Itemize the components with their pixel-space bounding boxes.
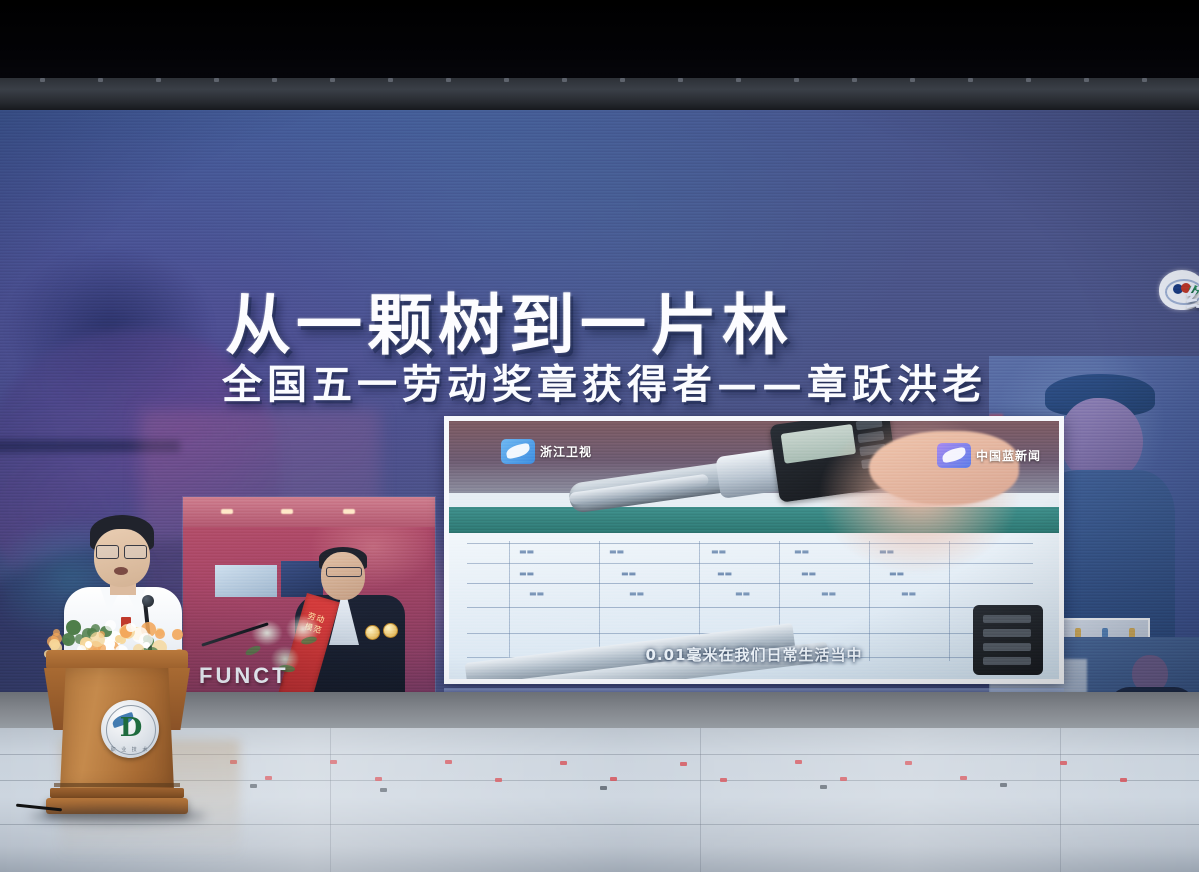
photo-glasses-icon [326, 567, 362, 577]
floor-confetti [720, 778, 727, 782]
floor-debris [1000, 783, 1007, 787]
document-cell: ▬▬ [529, 589, 544, 598]
document-cell: ▬▬ [735, 589, 750, 598]
photo-medal-1 [365, 625, 380, 640]
floor-confetti [1120, 778, 1127, 782]
flower-blossom [90, 632, 105, 647]
document-cell: ▬▬ [621, 569, 636, 578]
floor-seam-vertical [330, 728, 331, 872]
lectern-stripe [54, 783, 180, 787]
photo-spotlight-3 [343, 509, 355, 514]
page-title: 从一颗树到一片林 [225, 292, 793, 358]
floor-confetti [445, 760, 452, 764]
floor-confetti [265, 776, 272, 780]
photo-overlay-text: FUNCT [199, 663, 289, 689]
floor-confetti [680, 762, 687, 766]
lectern-top [46, 650, 188, 670]
crest-ring-text: · 职 业 技 术 · [101, 746, 159, 753]
floor-debris [250, 784, 257, 788]
bug-right-label: 中国蓝新闻 [976, 447, 1041, 464]
video-panel-frame: ▬▬▬▬▬▬▬▬▬▬▬▬▬▬▬▬▬▬▬▬▬▬▬▬▬▬▬▬▬▬ [444, 416, 1064, 684]
flower-blossom [66, 620, 81, 635]
photo-panel-2 [281, 561, 323, 597]
china-blue-news-logo-icon [937, 443, 971, 468]
floor-debris [380, 788, 387, 792]
broadcaster-bug-left: 浙江卫视 [501, 439, 592, 464]
document-cell: ▬▬ [629, 589, 644, 598]
photo-panel-1 [215, 565, 277, 597]
floor-confetti [560, 761, 567, 765]
flower-blossom [63, 638, 70, 645]
organization-logo-text: 红 [1186, 278, 1199, 315]
document-cell: ▬▬ [519, 569, 534, 578]
document-cell: ▬▬ [717, 569, 732, 578]
video-subtitle: 0.01毫米在我们日常生活当中 [449, 644, 1059, 665]
floor-confetti [960, 776, 967, 780]
document-cell: ▬▬ [519, 547, 534, 556]
microphone-head-icon [142, 595, 154, 607]
photo-award-ceremony: 劳动模范 FUNCT [183, 497, 435, 695]
crest-letter: D [117, 714, 145, 742]
floor-seam-vertical [700, 728, 701, 872]
school-crest-emblem-icon: D · 职 业 技 术 · [101, 700, 159, 758]
flower-blossom [53, 629, 60, 636]
floor-debris [820, 785, 827, 789]
broadcaster-bug-right: 中国蓝新闻 [937, 443, 1041, 468]
floor-confetti [375, 777, 382, 781]
document-column-rule [509, 541, 510, 661]
zhejiang-tv-logo-icon [501, 439, 535, 464]
document-cell: ▬▬ [609, 547, 624, 556]
document-column-rule [599, 541, 600, 661]
page-subtitle: 全国五一劳动奖章获得者——章跃洪老师 [222, 365, 1032, 405]
floor-debris [600, 786, 607, 790]
floor-confetti [610, 777, 617, 781]
bug-left-label: 浙江卫视 [540, 443, 592, 460]
flower-blossom [155, 629, 165, 639]
lectern-body: D · 职 业 技 术 · [60, 668, 174, 790]
lectern-base [50, 788, 184, 798]
lectern: D · 职 业 技 术 · [46, 650, 188, 815]
floor-seam-vertical [1060, 728, 1061, 872]
eyeglasses-icon [96, 545, 148, 557]
floor-confetti [840, 777, 847, 781]
speaker-mouth [114, 567, 128, 575]
floor-confetti [795, 760, 802, 764]
stage-photograph: 红 从一颗树到一片林 全国五一劳动奖章获得者——章跃洪老师 [0, 0, 1199, 872]
photo-spotlight-1 [221, 509, 233, 514]
floor-confetti [1060, 761, 1067, 765]
ceiling-dark-band [0, 0, 1199, 82]
floor-confetti [495, 778, 502, 782]
flower-blossom [172, 629, 182, 639]
floor-confetti [905, 761, 912, 765]
floor-confetti [330, 760, 337, 764]
flower-blossom [105, 620, 116, 631]
photo-spotlight-2 [281, 509, 293, 514]
truss-light-dots [0, 78, 1199, 83]
flower-blossom [85, 641, 92, 648]
photo-medal-2 [383, 623, 398, 638]
document-cell: ▬▬ [711, 547, 726, 556]
video-panel-content: ▬▬▬▬▬▬▬▬▬▬▬▬▬▬▬▬▬▬▬▬▬▬▬▬▬▬▬▬▬▬ [449, 421, 1059, 679]
flower-blossom [126, 623, 135, 632]
